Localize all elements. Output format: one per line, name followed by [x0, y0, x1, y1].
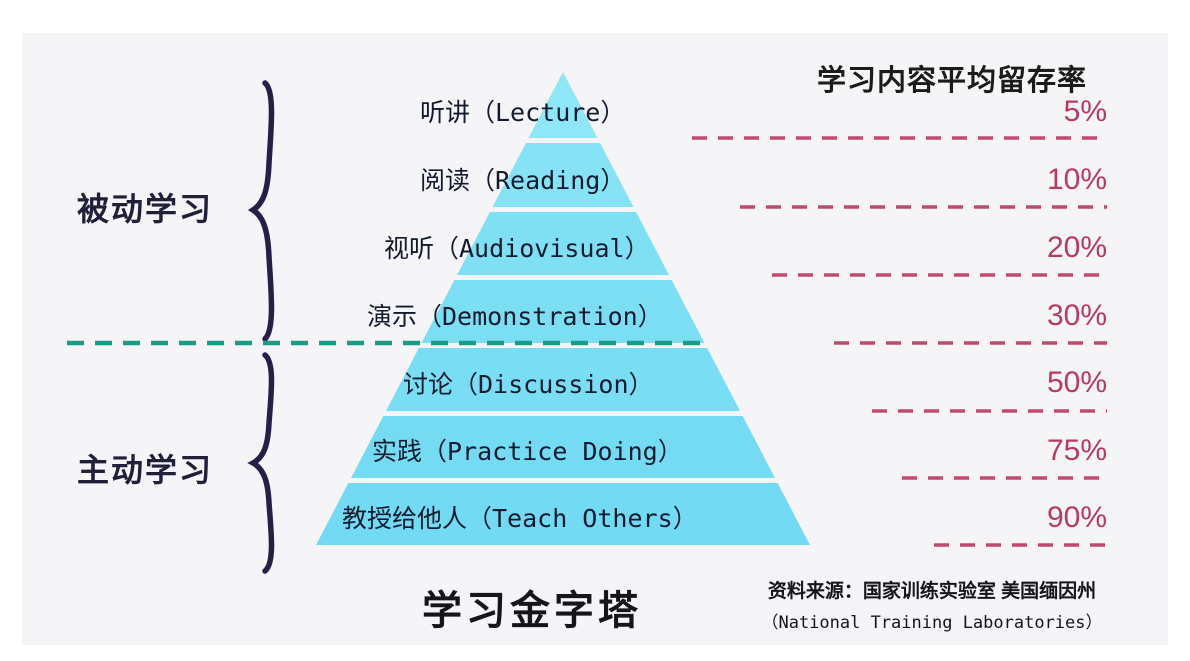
- layer-label-reading: 阅读（Reading）: [420, 161, 625, 197]
- group-label-active: 主动学习: [77, 445, 213, 491]
- passive-learning-brace: [253, 83, 272, 339]
- retention-value-reading: 10%: [967, 163, 1107, 197]
- retention-value-audiovisual: 20%: [967, 231, 1107, 265]
- layer-label-audiovisual: 视听（Audiovisual）: [384, 229, 650, 265]
- active-learning-brace: [253, 355, 272, 571]
- retention-rate-title: 学习内容平均留存率: [782, 57, 1122, 99]
- layer-label-discussion: 讨论（Discussion）: [403, 365, 654, 401]
- pyramid-title: 学习金字塔: [422, 578, 642, 636]
- retention-value-teach-others: 90%: [967, 501, 1107, 535]
- retention-value-practice: 75%: [967, 434, 1107, 468]
- retention-value-demonstration: 30%: [967, 299, 1107, 333]
- layer-label-practice: 实践（Practice Doing）: [372, 432, 683, 468]
- layer-label-teach-others: 教授给他人（Teach Others）: [342, 499, 698, 535]
- source-text-primary: 资料来源：国家训练实验室 美国缅因州: [722, 576, 1142, 603]
- source-text-secondary: （National Training Laboratories）: [722, 608, 1142, 633]
- layer-label-demonstration: 演示（Demonstration）: [367, 297, 663, 333]
- retention-value-lecture: 5%: [967, 95, 1107, 129]
- layer-label-lecture: 听讲（Lecture）: [420, 93, 625, 129]
- diagram-panel: 学习内容平均留存率 被动: [22, 33, 1168, 645]
- group-label-passive: 被动学习: [77, 184, 213, 230]
- retention-value-discussion: 50%: [967, 366, 1107, 400]
